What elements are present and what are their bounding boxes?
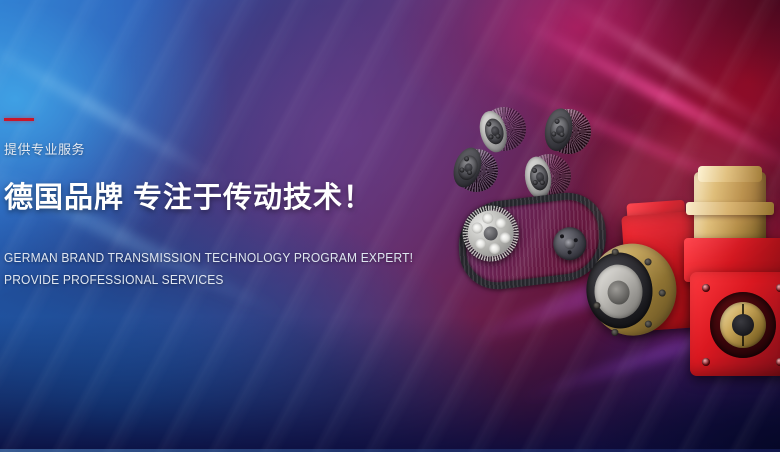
accent-rule	[4, 118, 34, 121]
subtitle-english: GERMAN BRAND TRANSMISSION TECHNOLOGY PRO…	[4, 248, 417, 291]
hero-copy-block: 提供专业服务 德国品牌 专注于传动技术！ GERMAN BRAND TRANSM…	[4, 118, 434, 291]
hero-banner: 提供专业服务 德国品牌 专注于传动技术！ GERMAN BRAND TRANSM…	[0, 0, 780, 452]
subtitle-line-1: GERMAN BRAND TRANSMISSION TECHNOLOGY PRO…	[4, 248, 417, 270]
kicker-text: 提供专业服务	[4, 139, 434, 158]
page-title: 德国品牌 专注于传动技术！	[4, 174, 434, 216]
subtitle-line-2: PROVIDE PROFESSIONAL SERVICES	[4, 270, 417, 292]
